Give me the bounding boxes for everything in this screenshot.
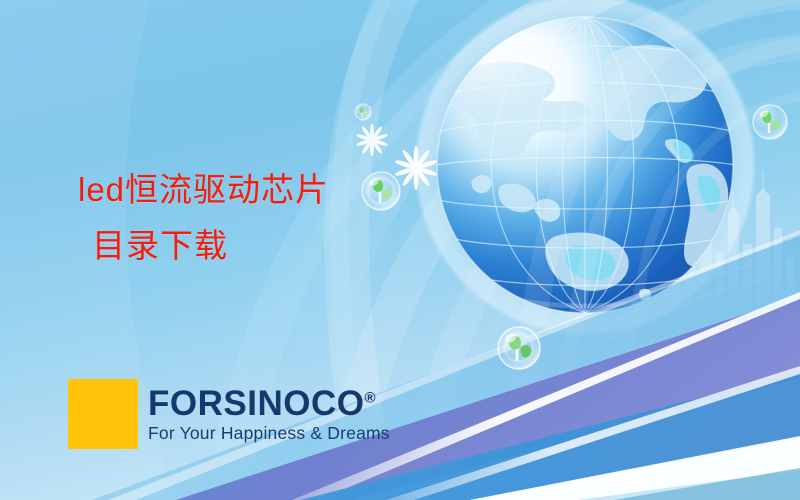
headline-line-2: 目录下载 [78,218,329,274]
bubble-pinwheel-icon [355,104,371,120]
logo-wordmark-text: FORSINOCO [148,384,364,423]
poster-canvas: led恒流驱动芯片 目录下载 FORSINOCO® For Your Happi… [0,0,800,500]
bubble-pinwheel-icon [753,105,787,139]
poster-headline: led恒流驱动芯片 目录下载 [78,162,329,274]
logo-mark-tile [68,379,138,449]
logo-tagline: For Your Happiness & Dreams [148,423,390,443]
registered-trademark-icon: ® [364,389,376,406]
logo-wordmark: FORSINOCO® [148,386,390,422]
headline-line-1: led恒流驱动芯片 [78,171,329,208]
bubble-pinwheel-icon [498,327,540,369]
logo-text-group: FORSINOCO® For Your Happiness & Dreams [148,386,390,443]
bubble-pinwheel-icon [362,172,400,210]
brand-logo: FORSINOCO® For Your Happiness & Dreams [68,379,390,449]
